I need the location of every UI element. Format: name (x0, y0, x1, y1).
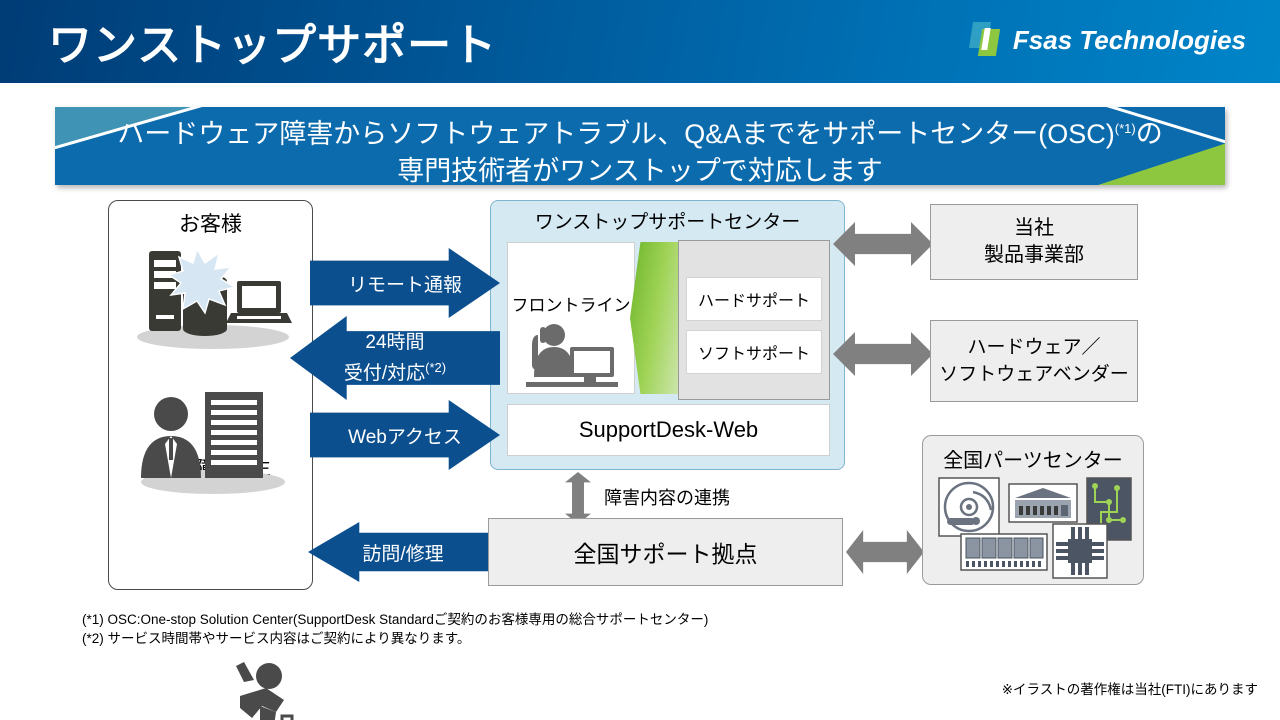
vendor-line1: ハードウェア／ (939, 334, 1129, 361)
double-arrow-product-icon (833, 222, 933, 266)
parts-center-title: 全国パーツセンター (923, 444, 1143, 473)
vendor-box: ハードウェア／ ソフトウェアベンダー (930, 320, 1138, 402)
arrow-24h-support-label: 24時間 受付/対応(*2) (344, 330, 446, 386)
banner-text: ハードウェア障害からソフトウェアトラブル、Q&Aまでをサポートセンター(OSC)… (55, 107, 1225, 185)
arrow-remote-report-label: リモート通報 (348, 270, 462, 297)
office-building-icon (127, 386, 299, 496)
parts-center-box: 全国パーツセンター (922, 435, 1144, 585)
brand-lockup: Fsas Technologies (971, 22, 1246, 58)
arrow-visit-repair: 訪問/修理 (308, 522, 498, 582)
banner-line-1: ハードウェア障害からソフトウェアトラブル、Q&Aまでをサポートセンター(OSC)… (55, 110, 1225, 153)
customer-panel: お客様 障害発生 (108, 200, 313, 590)
server-unit-icon (1009, 484, 1077, 522)
product-division-box: 当社 製品事業部 (930, 204, 1138, 280)
product-division-line2: 製品事業部 (984, 242, 1084, 269)
customer-panel-title: お客様 (109, 208, 312, 238)
arrow-web-access-label: Webアクセス (348, 422, 462, 449)
operator-headset-icon (520, 321, 624, 389)
vendor-line2: ソフトウェアベンダー (939, 361, 1129, 388)
double-arrow-parts-icon (846, 530, 924, 574)
page-title: ワンストップサポート (48, 9, 497, 73)
hard-disk-icon (939, 478, 999, 536)
center-panel-title: ワンストップサポートセンター (491, 207, 844, 234)
footnotes: (*1) OSC:One-stop Solution Center(Suppor… (82, 610, 708, 648)
footnote-1: (*1) OSC:One-stop Solution Center(Suppor… (82, 610, 708, 629)
copyright-note: ※イラストの著作権は当社(FTI)にあります (1002, 678, 1258, 698)
page-header: ワンストップサポート Fsas Technologies (0, 0, 1280, 83)
slide-root: ワンストップサポート Fsas Technologies ハードウェア障害からソ… (0, 0, 1280, 720)
failure-link-label: 障害内容の連携 (604, 484, 730, 510)
nationwide-support-base-box: 全国サポート拠点 (488, 518, 843, 586)
hard-support-box: ハードサポート (686, 277, 822, 321)
supportdesk-web-box: SupportDesk-Web (507, 404, 830, 456)
double-arrow-link-icon (565, 472, 591, 524)
running-engineer-icon (214, 656, 309, 720)
frontline-box: フロントライン (507, 242, 635, 394)
cpu-chip-icon (1053, 524, 1107, 578)
server-rack-icon (125, 241, 300, 351)
arrow-web-access: Webアクセス (310, 400, 500, 470)
parts-icon-group (937, 476, 1133, 580)
headline-banner: ハードウェア障害からソフトウェアトラブル、Q&Aまでをサポートセンター(OSC)… (55, 107, 1225, 185)
fsas-logo-icon (971, 22, 1001, 58)
arrow-visit-repair-label: 訪問/修理 (362, 539, 443, 566)
banner-line-2: 専門技術者がワンストップで対応します (55, 153, 1225, 185)
footnote-2: (*2) サービス時間帯やサービス内容はご契約により異なります。 (82, 629, 708, 648)
double-arrow-vendor-icon (833, 332, 933, 376)
arrow-24h-support: 24時間 受付/対応(*2) (290, 316, 500, 400)
soft-support-box: ソフトサポート (686, 330, 822, 374)
product-division-line1: 当社 (984, 215, 1084, 242)
frontline-label: フロントライン (508, 291, 634, 316)
brand-name: Fsas Technologies (1013, 25, 1246, 56)
memory-module-icon (961, 534, 1047, 570)
arrow-remote-report: リモート通報 (310, 248, 500, 318)
